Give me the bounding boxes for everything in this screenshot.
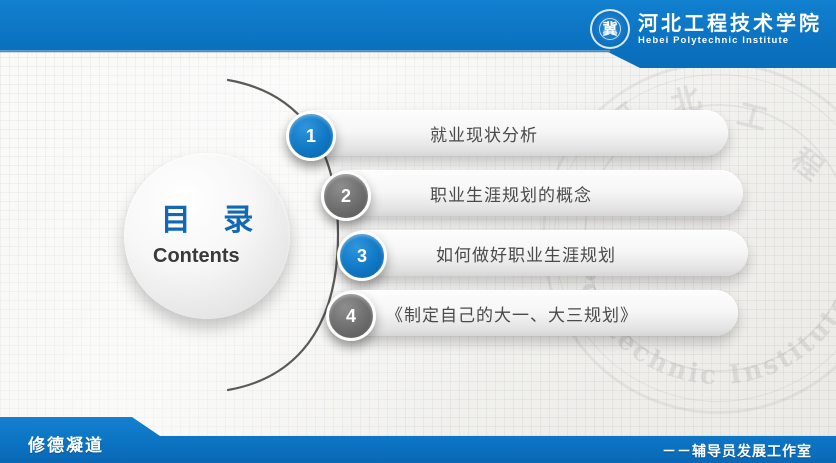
footer-attribution: －－辅导员发展工作室 (662, 441, 812, 461)
header: 冀 河北工程技术学院 Hebei Polytechnic Institute (0, 0, 836, 72)
item-label-2: 职业生涯规划的概念 (430, 181, 592, 206)
item-number-3[interactable]: 3 (337, 231, 387, 281)
school-name-en: Hebei Polytechnic Institute (638, 36, 822, 46)
school-logo-text: 河北工程技术学院 Hebei Polytechnic Institute (638, 13, 822, 46)
footer: 修德凝道 －－辅导员发展工作室 (0, 417, 836, 463)
item-label-3: 如何做好职业生涯规划 (436, 241, 616, 266)
contents-title-cn: 目 录 (161, 204, 264, 237)
contents-circle: 目 录 Contents (124, 153, 290, 319)
item-pill-3[interactable]: 如何做好职业生涯规划 (341, 230, 748, 276)
seal-cn-4: 程 (784, 135, 835, 188)
seal-cn-3: 工 (733, 89, 773, 139)
school-logo: 冀 河北工程技术学院 Hebei Polytechnic Institute (590, 8, 822, 50)
item-pill-1[interactable]: 就业现状分析 (290, 110, 728, 156)
school-name-cn: 河北工程技术学院 (638, 13, 822, 33)
logo-glyph: 冀 (592, 18, 628, 39)
item-pill-4[interactable]: 《制定自己的大一、大三规划》 (330, 290, 738, 336)
item-number-1[interactable]: 1 (286, 111, 336, 161)
item-pill-2[interactable]: 职业生涯规划的概念 (325, 170, 743, 216)
header-edge-highlight (0, 50, 610, 53)
item-number-4[interactable]: 4 (326, 291, 376, 341)
item-number-2[interactable]: 2 (321, 171, 371, 221)
slide: Polytechnic Institute 河 北 工 程 冀 河北工程技术学院… (0, 0, 836, 463)
item-label-4: 《制定自己的大一、大三规划》 (386, 301, 638, 326)
footer-slogan: 修德凝道 (28, 431, 104, 456)
school-seal-icon: 冀 (590, 9, 630, 49)
item-label-1: 就业现状分析 (430, 121, 538, 146)
contents-title-en: Contents (153, 245, 261, 268)
